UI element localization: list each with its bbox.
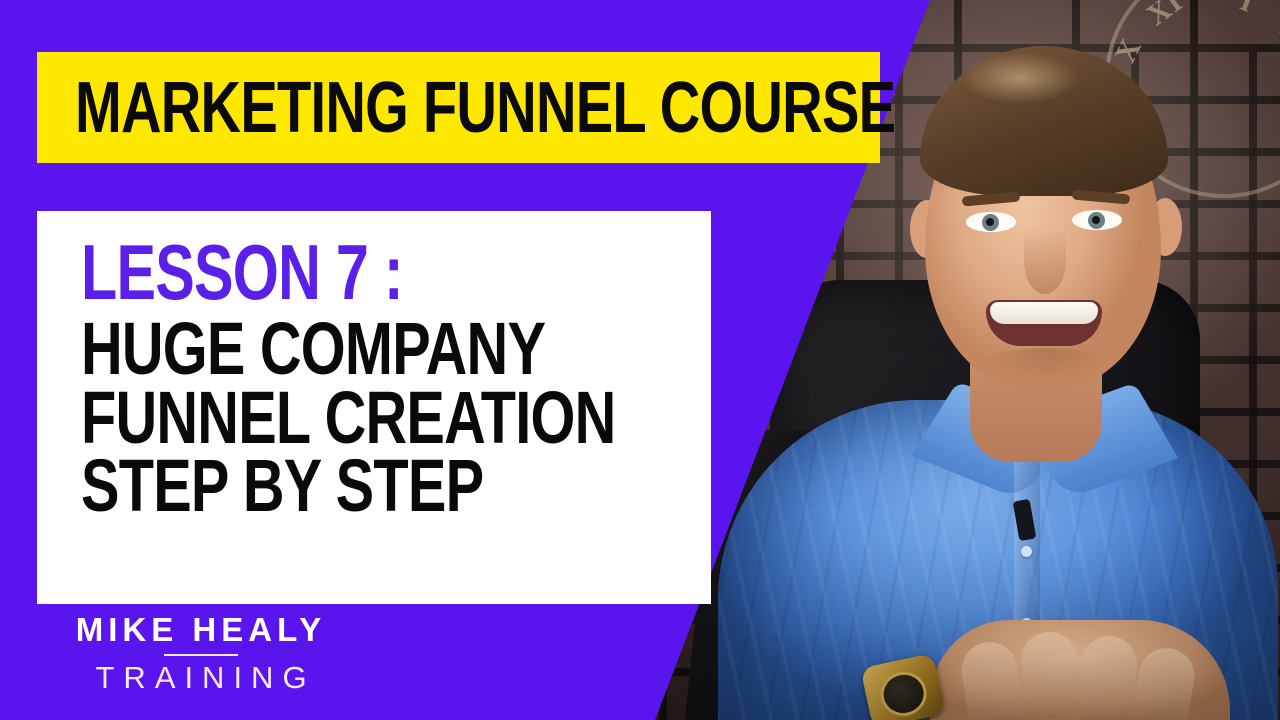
- course-title-text: MARKETING FUNNEL COURSE: [75, 72, 895, 144]
- nose: [1024, 228, 1066, 294]
- watch-face: [877, 668, 931, 720]
- eye-left: [966, 212, 1016, 232]
- lesson-title-line-1: HUGE COMPANY: [81, 315, 572, 384]
- shirt-button: [1021, 546, 1032, 557]
- iris: [982, 214, 999, 231]
- finger: [1129, 644, 1199, 720]
- finger: [1077, 634, 1139, 720]
- lesson-card: LESSON 7 : HUGE COMPANY FUNNEL CREATION …: [37, 211, 711, 604]
- course-title-banner: MARKETING FUNNEL COURSE: [37, 52, 880, 163]
- eye-right: [1072, 210, 1122, 230]
- lesson-title-line-3: STEP BY STEP: [81, 452, 572, 521]
- iris: [1088, 212, 1105, 229]
- finger: [958, 638, 1027, 720]
- lesson-title-line-2: FUNNEL CREATION: [81, 384, 572, 453]
- teeth: [990, 302, 1098, 324]
- smiling-mouth: [986, 300, 1102, 346]
- logo-divider: [164, 654, 238, 656]
- brand-logo: MIKE HEALY TRAINING: [55, 612, 347, 696]
- brand-name: MIKE HEALY: [55, 612, 347, 648]
- video-thumbnail: XII I II III IX X XI: [0, 0, 1280, 720]
- chin-shadow: [980, 348, 1110, 382]
- lesson-number-label: LESSON 7 :: [81, 237, 560, 309]
- brand-subtitle: TRAINING: [55, 660, 347, 696]
- finger: [1020, 631, 1080, 720]
- clasped-hands: [930, 620, 1230, 720]
- hair-highlight: [960, 52, 1080, 104]
